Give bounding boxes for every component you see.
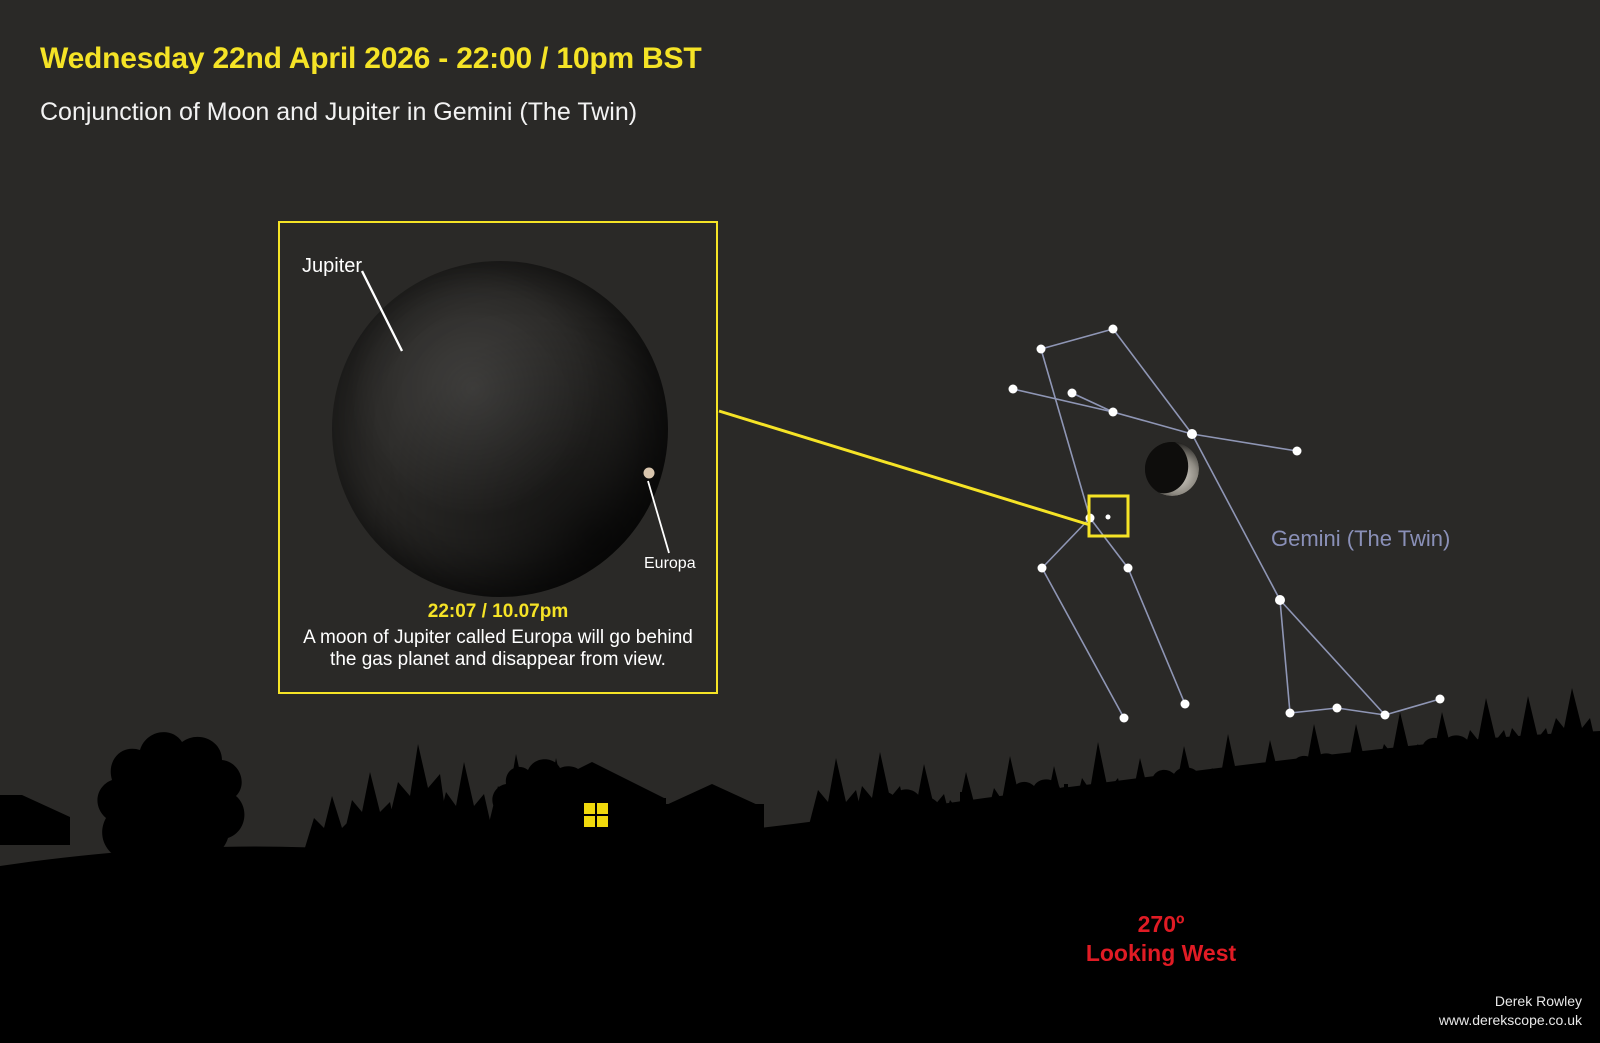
jupiter-leader-line: [362, 271, 402, 351]
credit-block: Derek Rowley www.derekscope.co.uk: [1439, 992, 1582, 1029]
inset-event-description: A moon of Jupiter called Europa will go …: [294, 627, 702, 672]
jupiter-label: Jupiter: [302, 255, 362, 278]
inset-desc-line1: A moon of Jupiter called Europa will go …: [294, 627, 702, 649]
europa-leader-line: [648, 481, 669, 553]
credit-website: www.derekscope.co.uk: [1439, 1011, 1582, 1029]
credit-author: Derek Rowley: [1439, 992, 1582, 1010]
inset-event-time: 22:07 / 10.07pm: [280, 601, 716, 623]
europa-label: Europa: [644, 555, 696, 573]
horizon-silhouette-layer: [0, 0, 1600, 1043]
jupiter-inset-panel[interactable]: Jupiter Europa 22:07 / 10.07pm A moon of…: [278, 221, 718, 694]
inset-annotation-layer: [280, 223, 720, 696]
europa-moon-icon: [644, 468, 655, 479]
compass-bearing: 270º Looking West: [1075, 910, 1247, 968]
sky-chart-canvas: Wednesday 22nd April 2026 - 22:00 / 10pm…: [0, 0, 1600, 1043]
inset-desc-line2: the gas planet and disappear from view.: [294, 649, 702, 671]
house-left-silhouette: [0, 795, 70, 845]
compass-degrees: 270º: [1075, 910, 1247, 939]
compass-direction: Looking West: [1075, 939, 1247, 968]
